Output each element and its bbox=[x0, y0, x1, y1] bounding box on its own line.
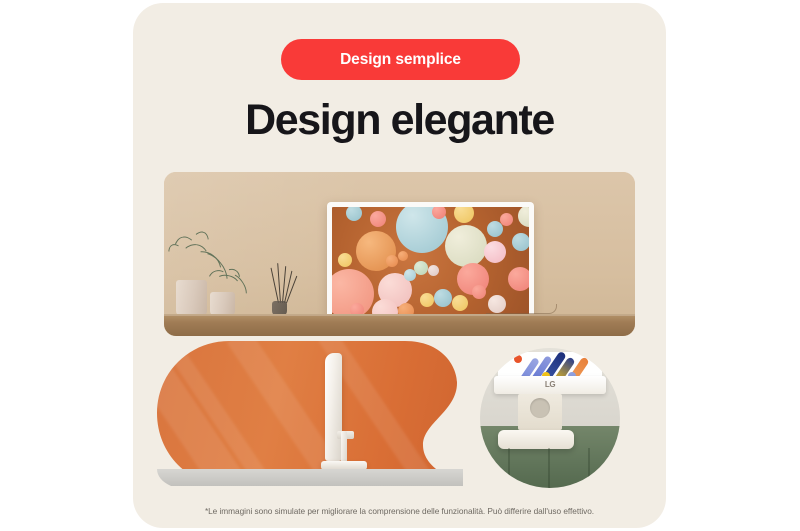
hero-image-panel bbox=[164, 172, 635, 336]
desk-surface bbox=[164, 314, 635, 336]
monitor-side-profile bbox=[325, 353, 351, 461]
monitor-side-post bbox=[341, 431, 347, 463]
closeup-stand-cutout bbox=[530, 398, 550, 418]
orange-panel-floor bbox=[157, 469, 473, 486]
closeup-stand-base bbox=[498, 430, 574, 449]
orange-wall bbox=[157, 341, 473, 486]
wall-panel-groove bbox=[548, 448, 550, 488]
monitor-side-base bbox=[321, 461, 367, 470]
page-title: Design elegante bbox=[133, 97, 666, 144]
promo-card: Design semplice Design elegante bbox=[133, 3, 666, 528]
lg-logo: LG bbox=[545, 380, 555, 389]
design-semplice-badge: Design semplice bbox=[281, 39, 520, 80]
wall-panel-groove bbox=[588, 448, 590, 488]
desk-cable bbox=[486, 304, 557, 314]
footnote-disclaimer: *Le immagini sono simulate per migliorar… bbox=[133, 506, 666, 516]
side-profile-panel bbox=[157, 341, 473, 486]
promo-stage: Design semplice Design elegante bbox=[0, 0, 800, 531]
plant-pot-large bbox=[176, 280, 207, 316]
monitor-side-panel bbox=[325, 353, 342, 461]
badge-label: Design semplice bbox=[340, 51, 461, 69]
plant-pot-small bbox=[210, 292, 235, 316]
closeup-screen-top bbox=[498, 352, 602, 378]
stand-closeup-circle: LG bbox=[480, 348, 620, 488]
monitor-screen-wallpaper bbox=[332, 207, 529, 317]
wall-panel-groove bbox=[508, 448, 510, 488]
